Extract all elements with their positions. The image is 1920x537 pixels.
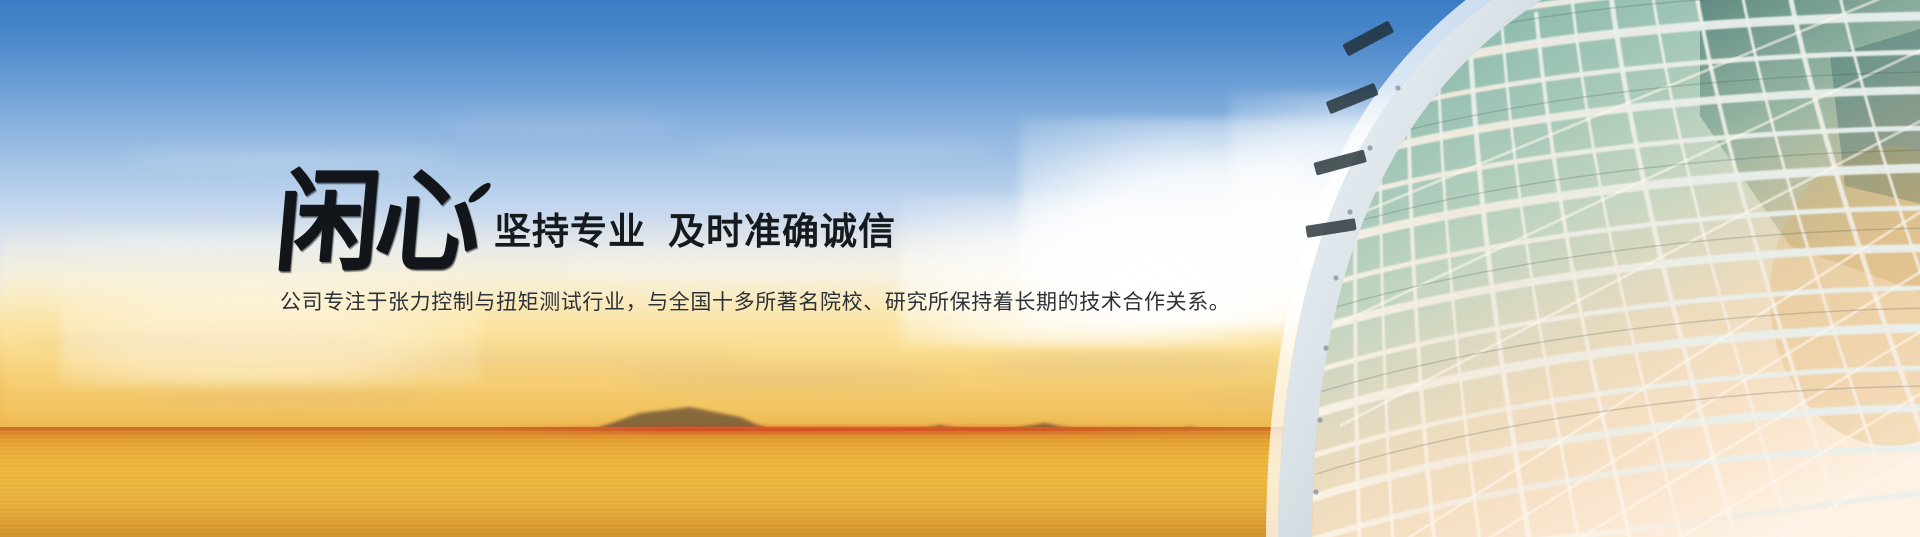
tagline-part-1: 坚持专业 bbox=[494, 211, 646, 252]
banner-copy: 闲心 坚持专业及时准确诚信 公司专注于张力控制与扭矩测试行业，与全国十多所著名院… bbox=[276, 168, 1116, 316]
tagline: 坚持专业及时准确诚信 bbox=[494, 201, 896, 264]
hero-banner: 闲心 坚持专业及时准确诚信 公司专注于张力控制与扭矩测试行业，与全国十多所著名院… bbox=[0, 0, 1920, 537]
cloud-streak bbox=[700, 142, 1000, 156]
tagline-part-2: 及时准确诚信 bbox=[668, 211, 896, 252]
brush-stroke-accent bbox=[466, 181, 493, 205]
brand-calligraphy: 闲心 bbox=[272, 171, 481, 272]
banner-description: 公司专注于张力控制与扭矩测试行业，与全国十多所著名院校、研究所保持着长期的技术合… bbox=[280, 286, 1116, 316]
headline-row: 闲心 坚持专业及时准确诚信 bbox=[276, 168, 1116, 264]
glass-skyscraper bbox=[1230, 0, 1920, 537]
cloud-streak bbox=[430, 118, 690, 130]
